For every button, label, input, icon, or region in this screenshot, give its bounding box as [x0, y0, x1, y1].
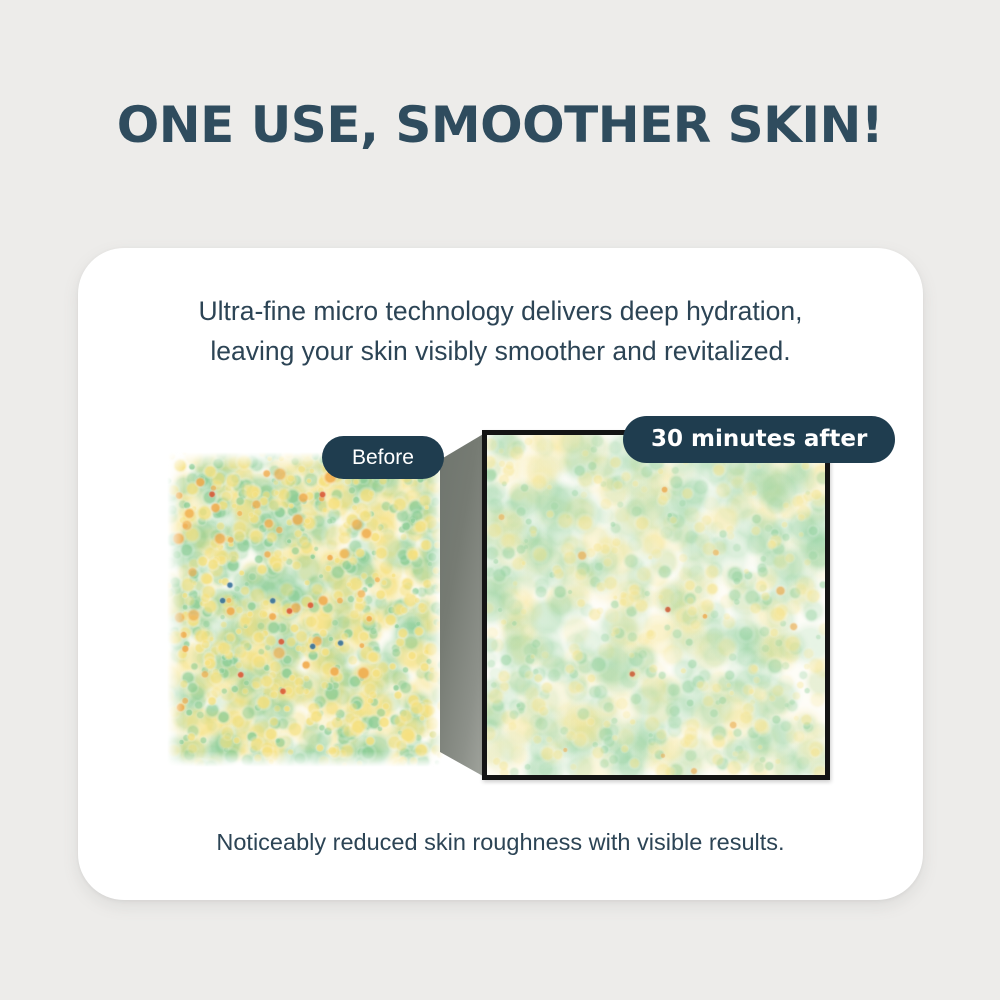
- before-image-edge-fade: [167, 452, 444, 767]
- info-card: Ultra-fine micro technology delivers dee…: [78, 248, 923, 900]
- lead-paragraph-line-1: Ultra-fine micro technology delivers dee…: [78, 292, 923, 332]
- lead-paragraph: Ultra-fine micro technology delivers dee…: [78, 292, 923, 372]
- after-image-panel: [482, 430, 830, 780]
- after-skin-texture-image: [487, 435, 825, 775]
- before-image-panel: [167, 452, 444, 767]
- before-after-comparison: Before 30 minutes after: [78, 416, 923, 796]
- page-title: ONE USE, SMOOTHER SKIN!: [0, 96, 1000, 154]
- badge-30-minutes-after: 30 minutes after: [623, 416, 895, 463]
- lead-paragraph-line-2: leaving your skin visibly smoother and r…: [78, 332, 923, 372]
- result-caption: Noticeably reduced skin roughness with v…: [78, 829, 923, 856]
- badge-before: Before: [322, 436, 444, 479]
